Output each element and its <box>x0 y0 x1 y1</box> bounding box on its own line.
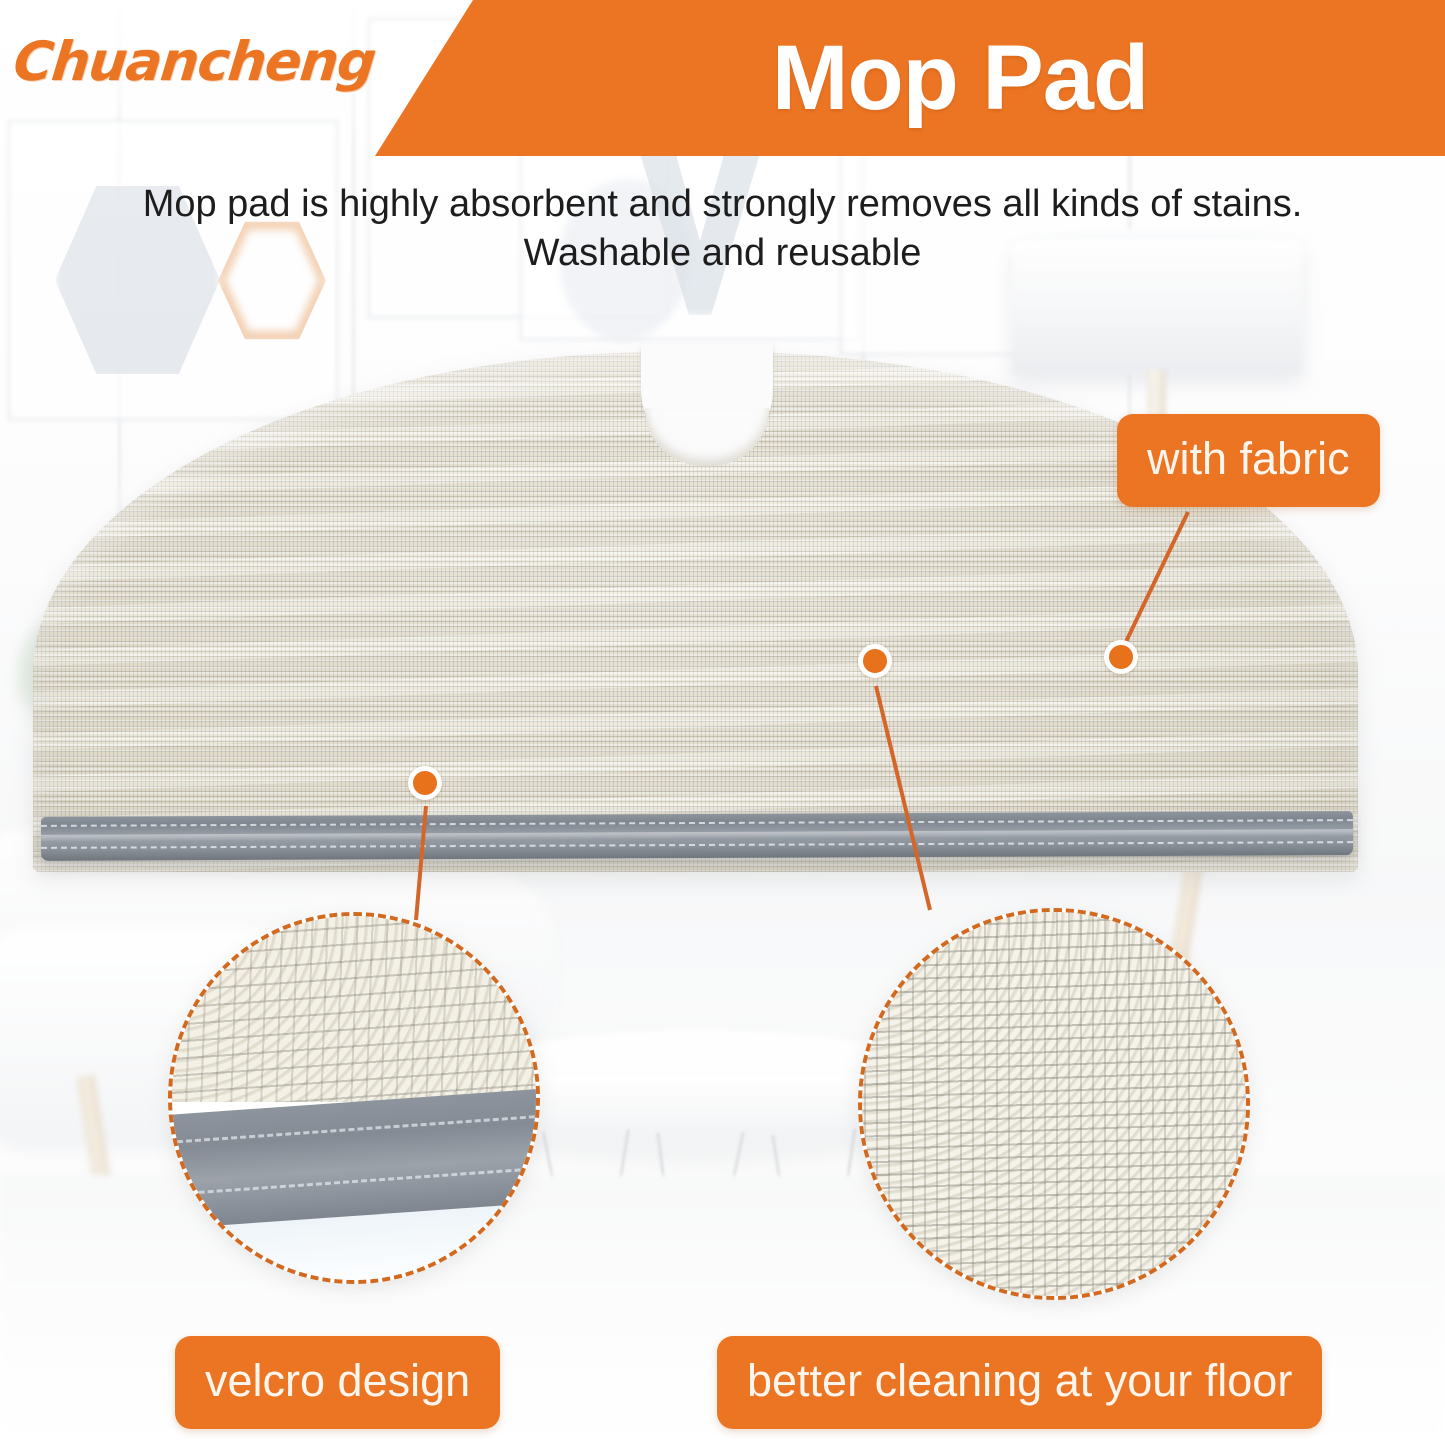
velcro-detail-stitch <box>168 1166 540 1197</box>
velcro-detail-image <box>172 916 536 1280</box>
callout-dot-velcro-detail[interactable] <box>408 766 442 800</box>
fabric-detail-microfiber-loops <box>858 908 1250 1300</box>
velcro-detail-fabric-loops <box>168 912 540 1102</box>
callout-badge-velcro-design[interactable]: velcro design <box>175 1336 500 1429</box>
hem-stitch-line <box>41 819 1353 827</box>
callout-badge-better-cleaning[interactable]: better cleaning at your floor <box>717 1336 1322 1429</box>
callout-dot-fabric-detail[interactable] <box>858 644 892 678</box>
callout-dot-with-fabric[interactable] <box>1104 640 1138 674</box>
callout-badge-with-fabric[interactable]: with fabric <box>1117 414 1380 507</box>
subtitle-text: Mop pad is highly absorbent and strongly… <box>105 180 1340 278</box>
hem-highlight <box>41 829 1353 842</box>
page-title: Mop Pad <box>600 20 1320 136</box>
hem-stitch-line <box>41 841 1353 849</box>
detail-circle-velcro <box>168 912 540 1284</box>
fabric-detail-image <box>862 912 1246 1296</box>
mop-pad-grey-hem-band <box>41 811 1353 861</box>
detail-circle-fabric <box>858 908 1250 1300</box>
velcro-detail-stitch <box>168 1114 540 1145</box>
brand-logo: Chuancheng <box>11 30 378 93</box>
product-infographic: Chuancheng Mop Pad Mop pad is highly abs… <box>0 0 1445 1445</box>
